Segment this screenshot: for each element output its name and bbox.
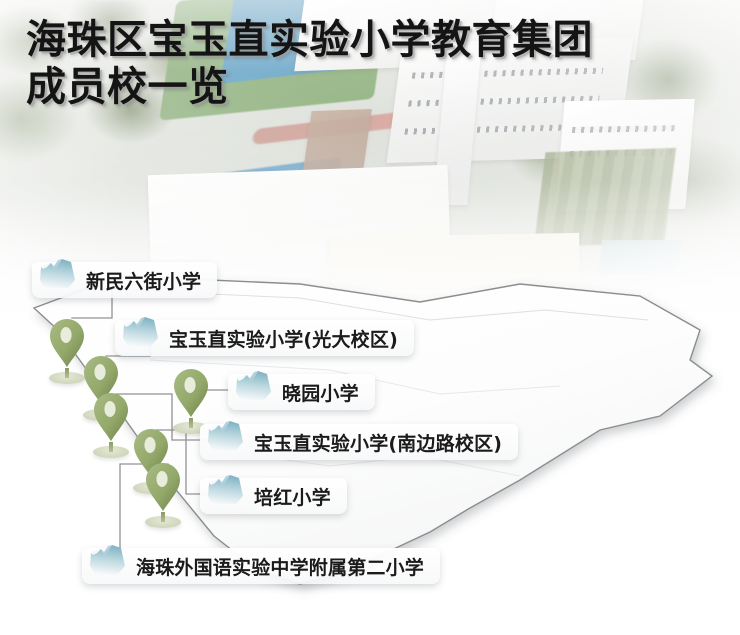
map-pin-stem [189,418,193,428]
school-label-text: 宝玉直实验小学(南边路校区) [254,429,502,456]
map-pin-icon [92,392,130,442]
school-label-haizhu-waiguoyu[interactable]: 海珠外国语实验中学附属第二小学 [82,548,440,584]
school-label-baoyuzhi-nanbianlu[interactable]: 宝玉直实验小学(南边路校区) [200,424,518,460]
map-pin-icon [144,462,182,512]
map-pin-stem [109,442,113,452]
banner-tag-icon [88,544,128,576]
school-label-xinmin-liujie[interactable]: 新民六街小学 [32,262,217,298]
school-label-text: 培红小学 [254,483,331,510]
school-label-baoyuzhi-guangda[interactable]: 宝玉直实验小学(光大校区) [115,320,414,356]
school-label-xiaoyuan[interactable]: 晓园小学 [228,374,375,410]
school-label-text: 晓园小学 [282,379,359,406]
map-pin-6[interactable] [140,462,186,528]
map-pin-icon [172,368,210,418]
banner-tag-icon [234,370,274,402]
school-label-text: 新民六街小学 [86,267,201,294]
page-title: 海珠区宝玉直实验小学教育集团 成员校一览 [26,16,716,110]
banner-tag-icon [121,316,161,348]
school-label-text: 海珠外国语实验中学附属第二小学 [136,553,424,580]
map-pin-stem [161,512,165,522]
infographic-canvas: 新民六街小学 宝玉直实验小学(光大校区) 晓园小学 宝玉直实验小学(南边路校区) [0,0,740,635]
map-pin-stem [65,368,69,378]
banner-tag-icon [206,474,246,506]
school-label-peihong[interactable]: 培红小学 [200,478,347,514]
school-label-text: 宝玉直实验小学(光大校区) [169,325,398,352]
banner-tag-icon [38,258,78,290]
banner-tag-icon [206,420,246,452]
